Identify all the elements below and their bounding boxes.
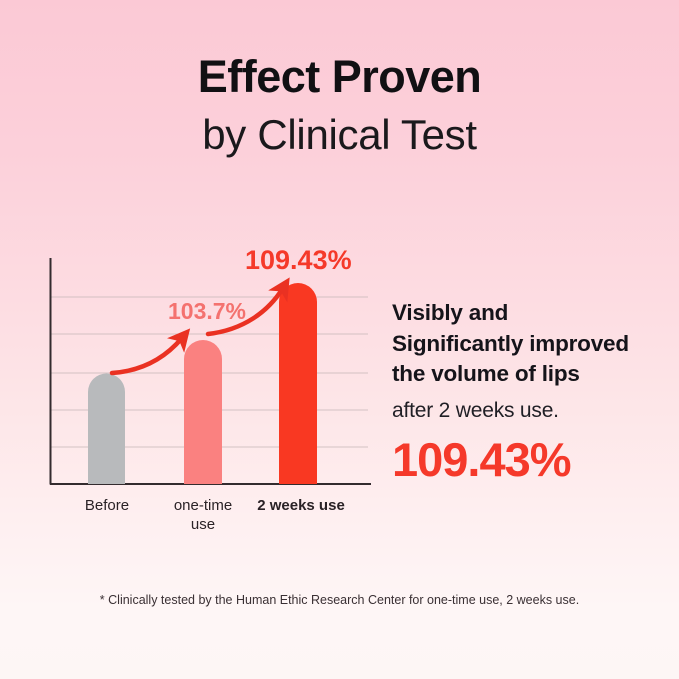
axis-label-before: Before — [63, 497, 151, 516]
summary-regular-line: after 2 weeks use. — [392, 396, 672, 425]
summary-bold-line-2: Significantly improved — [392, 329, 672, 360]
summary-bold-line-3: the volume of lips — [392, 359, 672, 390]
infographic-page: Effect Proven by Clinical Test — [0, 0, 679, 679]
axis-label-one-time-line1: one-time — [174, 497, 232, 514]
summary-copy-block: Visibly and Significantly improved the v… — [392, 298, 672, 486]
summary-highlight-value: 109.43% — [392, 434, 672, 486]
bar-chart: 103.7% 109.43% Before one-time use 2 wee… — [0, 0, 400, 560]
axis-label-one-time-use: one-time use — [158, 497, 248, 535]
bar-value-one-time-use: 103.7% — [168, 298, 246, 325]
bar-two-weeks-use — [279, 283, 317, 484]
summary-bold-line-1: Visibly and — [392, 298, 672, 329]
arrow-before-to-one-time — [112, 338, 182, 373]
chart-graphic — [0, 0, 400, 560]
bar-value-two-weeks-use: 109.43% — [245, 245, 352, 276]
axis-label-two-weeks-use: 2 weeks use — [241, 497, 361, 516]
bar-one-time-use — [184, 340, 222, 484]
axis-label-one-time-line2: use — [191, 516, 215, 533]
bar-before — [88, 374, 125, 485]
footnote: * Clinically tested by the Human Ethic R… — [0, 593, 679, 607]
